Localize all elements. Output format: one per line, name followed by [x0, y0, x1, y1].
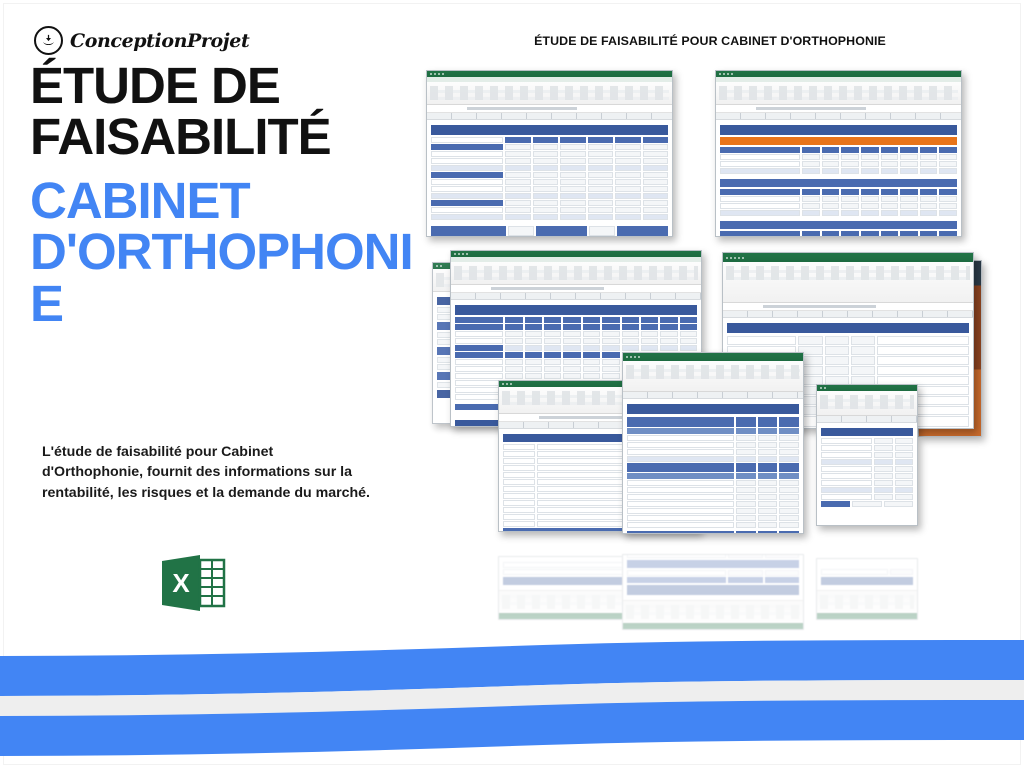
- window-titlebar: [623, 353, 803, 361]
- table-row: [627, 480, 799, 486]
- ribbon-toolbar[interactable]: [451, 262, 701, 285]
- table-row: [720, 196, 957, 202]
- band: [627, 560, 799, 568]
- table-row: [720, 231, 957, 237]
- worksheet-grid[interactable]: [716, 120, 961, 237]
- excel-window-income-statement[interactable]: [622, 352, 804, 534]
- formula-bar[interactable]: [427, 105, 672, 113]
- table-row: [627, 449, 799, 455]
- reflection-window: [816, 558, 918, 620]
- microsoft-excel-icon: X: [160, 553, 226, 613]
- sheet-title-band: [720, 125, 957, 135]
- table-row: [431, 226, 668, 237]
- headline-line-3: CABINET: [30, 177, 430, 224]
- excel-window-payroll[interactable]: [715, 70, 962, 237]
- table-row: [627, 435, 799, 441]
- table-row: [720, 189, 957, 195]
- table-row: [431, 200, 668, 206]
- table-row: [455, 338, 697, 344]
- ribbon-toolbar[interactable]: [623, 361, 803, 392]
- table-row: [627, 501, 799, 507]
- ribbon-toolbar: [623, 600, 803, 623]
- table-row: [821, 487, 913, 493]
- table-row: [431, 193, 668, 199]
- table-row: [627, 428, 799, 434]
- table-row: [821, 438, 913, 444]
- band: [627, 585, 799, 595]
- formula-bar[interactable]: [716, 105, 961, 113]
- headline-line-1: ÉTUDE DE: [30, 62, 430, 109]
- table-row: [821, 452, 913, 458]
- headline-line-5: E: [30, 280, 430, 327]
- table-row: [727, 336, 969, 345]
- year-band: [720, 137, 957, 145]
- lead-paragraph: L'étude de faisabilité pour Cabinet d'Or…: [42, 442, 372, 503]
- table-row: [431, 158, 668, 164]
- table-row: [821, 459, 913, 465]
- table-row: [431, 179, 668, 185]
- excel-window-balance[interactable]: [816, 384, 918, 526]
- collage-title: ÉTUDE DE FAISABILITÉ POUR CABINET D'ORTH…: [510, 34, 910, 48]
- table-row: [821, 501, 913, 507]
- poster-canvas: ConceptionProjet ÉTUDE DE FAISABILITÉ CA…: [0, 0, 1024, 768]
- worksheet-grid[interactable]: [623, 399, 803, 534]
- table-row: [455, 324, 697, 330]
- brand-name: ConceptionProjet: [70, 30, 249, 52]
- brand-logo: ConceptionProjet: [34, 26, 249, 55]
- headline-line-4: D'ORTHOPHONI: [30, 228, 430, 275]
- table-row: [431, 207, 668, 213]
- table-row: [627, 494, 799, 500]
- table-row: [720, 168, 957, 174]
- sheet-title-band: [431, 125, 668, 135]
- worksheet-grid[interactable]: [427, 120, 672, 237]
- table-row: [431, 137, 668, 143]
- table-row: [627, 577, 799, 583]
- table-row: [627, 508, 799, 514]
- excel-window-revenue[interactable]: [426, 70, 673, 237]
- ribbon-toolbar[interactable]: [817, 391, 917, 416]
- sheet-title-band: [821, 428, 913, 436]
- table-row: [821, 494, 913, 500]
- column-headers: [451, 293, 701, 300]
- table-row: [455, 331, 697, 337]
- ribbon-toolbar[interactable]: [427, 82, 672, 105]
- collage-reflection: [410, 556, 1024, 630]
- reflection-window: [622, 554, 804, 630]
- table-row: [431, 144, 668, 150]
- column-headers: [716, 113, 961, 120]
- ribbon-toolbar: [817, 590, 917, 613]
- table-row: [627, 554, 799, 558]
- table-row: [821, 569, 913, 575]
- window-titlebar: [817, 613, 917, 619]
- worksheet-grid[interactable]: [817, 423, 917, 511]
- band: [821, 577, 913, 585]
- column-headers: [623, 392, 803, 399]
- table-row: [431, 214, 668, 220]
- table-row: [720, 147, 957, 153]
- funnel-in-circle-icon: [34, 26, 63, 55]
- ribbon-toolbar[interactable]: [716, 82, 961, 105]
- headline-line-2: FAISABILITÉ: [30, 113, 430, 160]
- worksheet-grid: [817, 565, 917, 590]
- column-headers: [427, 113, 672, 120]
- table-row: [821, 445, 913, 451]
- wave-decoration: [0, 628, 1024, 768]
- window-titlebar: [723, 253, 973, 262]
- table-row: [627, 531, 799, 534]
- page-title: ÉTUDE DE FAISABILITÉ CABINET D'ORTHOPHON…: [30, 62, 430, 331]
- sheet-title-band: [627, 404, 799, 414]
- table-row: [720, 161, 957, 167]
- table-row: [627, 417, 799, 427]
- column-headers: [817, 416, 917, 423]
- table-row: [627, 515, 799, 521]
- table-row: [627, 463, 799, 472]
- table-row: [821, 480, 913, 486]
- table-row: [431, 172, 668, 178]
- table-row: [821, 473, 913, 479]
- section-band: [720, 221, 957, 229]
- table-row: [431, 165, 668, 171]
- table-row: [431, 151, 668, 157]
- table-row: [455, 317, 697, 323]
- headline-subject: CABINET D'ORTHOPHONI E: [30, 177, 430, 327]
- table-row: [720, 154, 957, 160]
- table-row: [431, 186, 668, 192]
- sheet-title-band: [455, 305, 697, 315]
- column-headers: [723, 311, 973, 318]
- svg-text:X: X: [172, 568, 190, 598]
- screenshot-collage: [410, 62, 1024, 622]
- table-row: [627, 442, 799, 448]
- section-band: [720, 179, 957, 187]
- table-row: [720, 203, 957, 209]
- sheet-title-band: [727, 323, 969, 333]
- table-row: [627, 487, 799, 493]
- table-row: [627, 570, 799, 576]
- table-row: [821, 466, 913, 472]
- table-row: [455, 345, 697, 351]
- table-row: [720, 210, 957, 216]
- table-row: [627, 473, 799, 479]
- table-row: [627, 456, 799, 462]
- ribbon-toolbar[interactable]: [723, 262, 973, 303]
- table-row: [627, 522, 799, 528]
- worksheet-grid: [623, 554, 803, 600]
- formula-bar[interactable]: [723, 303, 973, 311]
- formula-bar[interactable]: [451, 285, 701, 293]
